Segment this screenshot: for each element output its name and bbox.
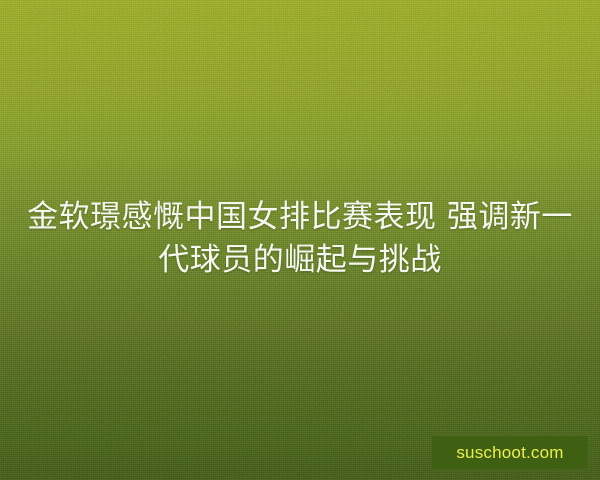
title-card: 金软璟感慨中国女排比赛表现 强调新一 代球员的崛起与挑战 suschoot.co… bbox=[0, 0, 600, 480]
watermark-badge: suschoot.com bbox=[432, 436, 588, 469]
page-title: 金软璟感慨中国女排比赛表现 强调新一 代球员的崛起与挑战 bbox=[0, 196, 600, 282]
watermark-text: suschoot.com bbox=[456, 443, 563, 463]
